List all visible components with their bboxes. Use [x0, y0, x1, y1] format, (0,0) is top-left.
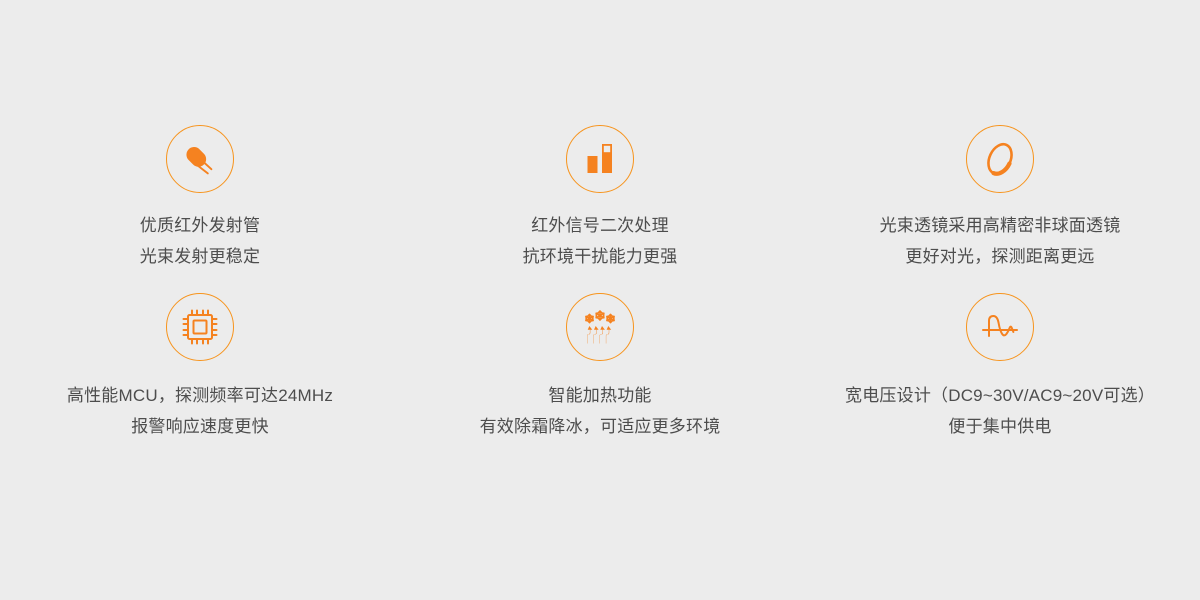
lens-icon [966, 125, 1034, 193]
feature-text: 优质红外发射管 光束发射更稳定 [140, 210, 260, 272]
feature-line-1: 优质红外发射管 [140, 210, 260, 241]
feature-text: 红外信号二次处理 抗环境干扰能力更强 [523, 210, 678, 272]
feature-card-signal-processing: 红外信号二次处理 抗环境干扰能力更强 [400, 125, 800, 293]
feature-line-2: 有效除霜降冰，可适应更多环境 [480, 411, 721, 442]
defrost-heating-icon [566, 293, 634, 361]
feature-card-mcu: 高性能MCU，探测频率可达24MHz 报警响应速度更快 [0, 293, 400, 461]
feature-line-1: 红外信号二次处理 [523, 210, 678, 241]
feature-card-wide-voltage: 宽电压设计（DC9~30V/AC9~20V可选） 便于集中供电 [800, 293, 1200, 461]
feature-line-2: 便于集中供电 [845, 411, 1155, 442]
cpu-chip-icon [166, 293, 234, 361]
feature-line-2: 报警响应速度更快 [67, 411, 333, 442]
feature-line-1: 高性能MCU，探测频率可达24MHz [67, 380, 333, 411]
feature-line-2: 光束发射更稳定 [140, 241, 260, 272]
feature-card-heating: 智能加热功能 有效除霜降冰，可适应更多环境 [400, 293, 800, 461]
feature-line-1: 宽电压设计（DC9~30V/AC9~20V可选） [845, 380, 1155, 411]
feature-text: 智能加热功能 有效除霜降冰，可适应更多环境 [480, 380, 721, 442]
feature-card-lens: 光束透镜采用高精密非球面透镜 更好对光，探测距离更远 [800, 125, 1200, 293]
feature-line-2: 更好对光，探测距离更远 [880, 241, 1121, 272]
feature-text: 光束透镜采用高精密非球面透镜 更好对光，探测距离更远 [880, 210, 1121, 272]
feature-line-1: 智能加热功能 [480, 380, 721, 411]
features-grid: 优质红外发射管 光束发射更稳定 红外信号二次处理 抗环境干扰能力更强 [0, 0, 1200, 600]
feature-text: 宽电压设计（DC9~30V/AC9~20V可选） 便于集中供电 [845, 380, 1155, 442]
signal-bars-icon [566, 125, 634, 193]
feature-line-1: 光束透镜采用高精密非球面透镜 [880, 210, 1121, 241]
feature-text: 高性能MCU，探测频率可达24MHz 报警响应速度更快 [67, 380, 333, 442]
waveform-icon [966, 293, 1034, 361]
feature-line-2: 抗环境干扰能力更强 [523, 241, 678, 272]
infrared-led-icon [166, 125, 234, 193]
feature-card-infrared-led: 优质红外发射管 光束发射更稳定 [0, 125, 400, 293]
